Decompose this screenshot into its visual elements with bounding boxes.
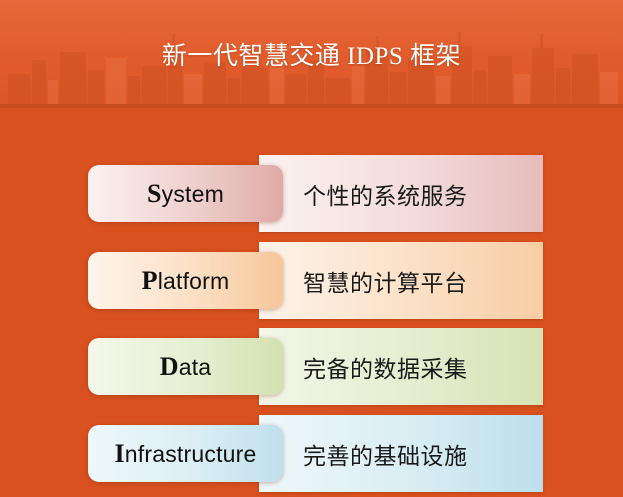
layer-row-data[interactable]: 完备的数据采集 Data [0, 328, 623, 405]
layer-name-rest: ata [179, 354, 212, 380]
layer-row-infrastructure[interactable]: 完善的基础设施 Infrastructure [0, 415, 623, 492]
layer-name-pill-data[interactable]: Data [88, 338, 283, 395]
layer-initial: I [114, 439, 124, 468]
layer-name-label: Platform [142, 266, 230, 296]
layer-description-panel: 智慧的计算平台 [259, 242, 543, 319]
layer-initial: S [147, 179, 162, 208]
layer-initial: P [142, 266, 158, 295]
header-band: 新一代智慧交通 IDPS 框架 [0, 0, 623, 108]
layer-name-label: Infrastructure [114, 439, 256, 469]
layer-description-panel: 完备的数据采集 [259, 328, 543, 405]
layer-initial: D [160, 352, 179, 381]
layer-description-text: 智慧的计算平台 [303, 242, 468, 319]
page-title: 新一代智慧交通 IDPS 框架 [0, 0, 623, 108]
layer-name-pill-system[interactable]: System [88, 165, 283, 222]
layer-name-label: System [147, 179, 224, 209]
layer-description-panel: 完善的基础设施 [259, 415, 543, 492]
slide-root: 新一代智慧交通 IDPS 框架 个性的系统服务 System 智慧的计算平台 P… [0, 0, 623, 497]
layer-name-rest: nfrastructure [125, 441, 257, 467]
layer-name-rest: latform [158, 268, 230, 294]
layer-row-platform[interactable]: 智慧的计算平台 Platform [0, 242, 623, 319]
layer-name-label: Data [160, 352, 212, 382]
layer-description-text: 完善的基础设施 [303, 415, 468, 492]
layer-description-panel: 个性的系统服务 [259, 155, 543, 232]
layer-description-text: 个性的系统服务 [303, 155, 468, 232]
layer-name-pill-platform[interactable]: Platform [88, 252, 283, 309]
layer-description-text: 完备的数据采集 [303, 328, 468, 405]
layer-row-system[interactable]: 个性的系统服务 System [0, 155, 623, 232]
layer-name-rest: ystem [162, 181, 224, 207]
layer-name-pill-infrastructure[interactable]: Infrastructure [88, 425, 283, 482]
layer-stack: 个性的系统服务 System 智慧的计算平台 Platform 完备的数据采集 … [0, 108, 623, 497]
